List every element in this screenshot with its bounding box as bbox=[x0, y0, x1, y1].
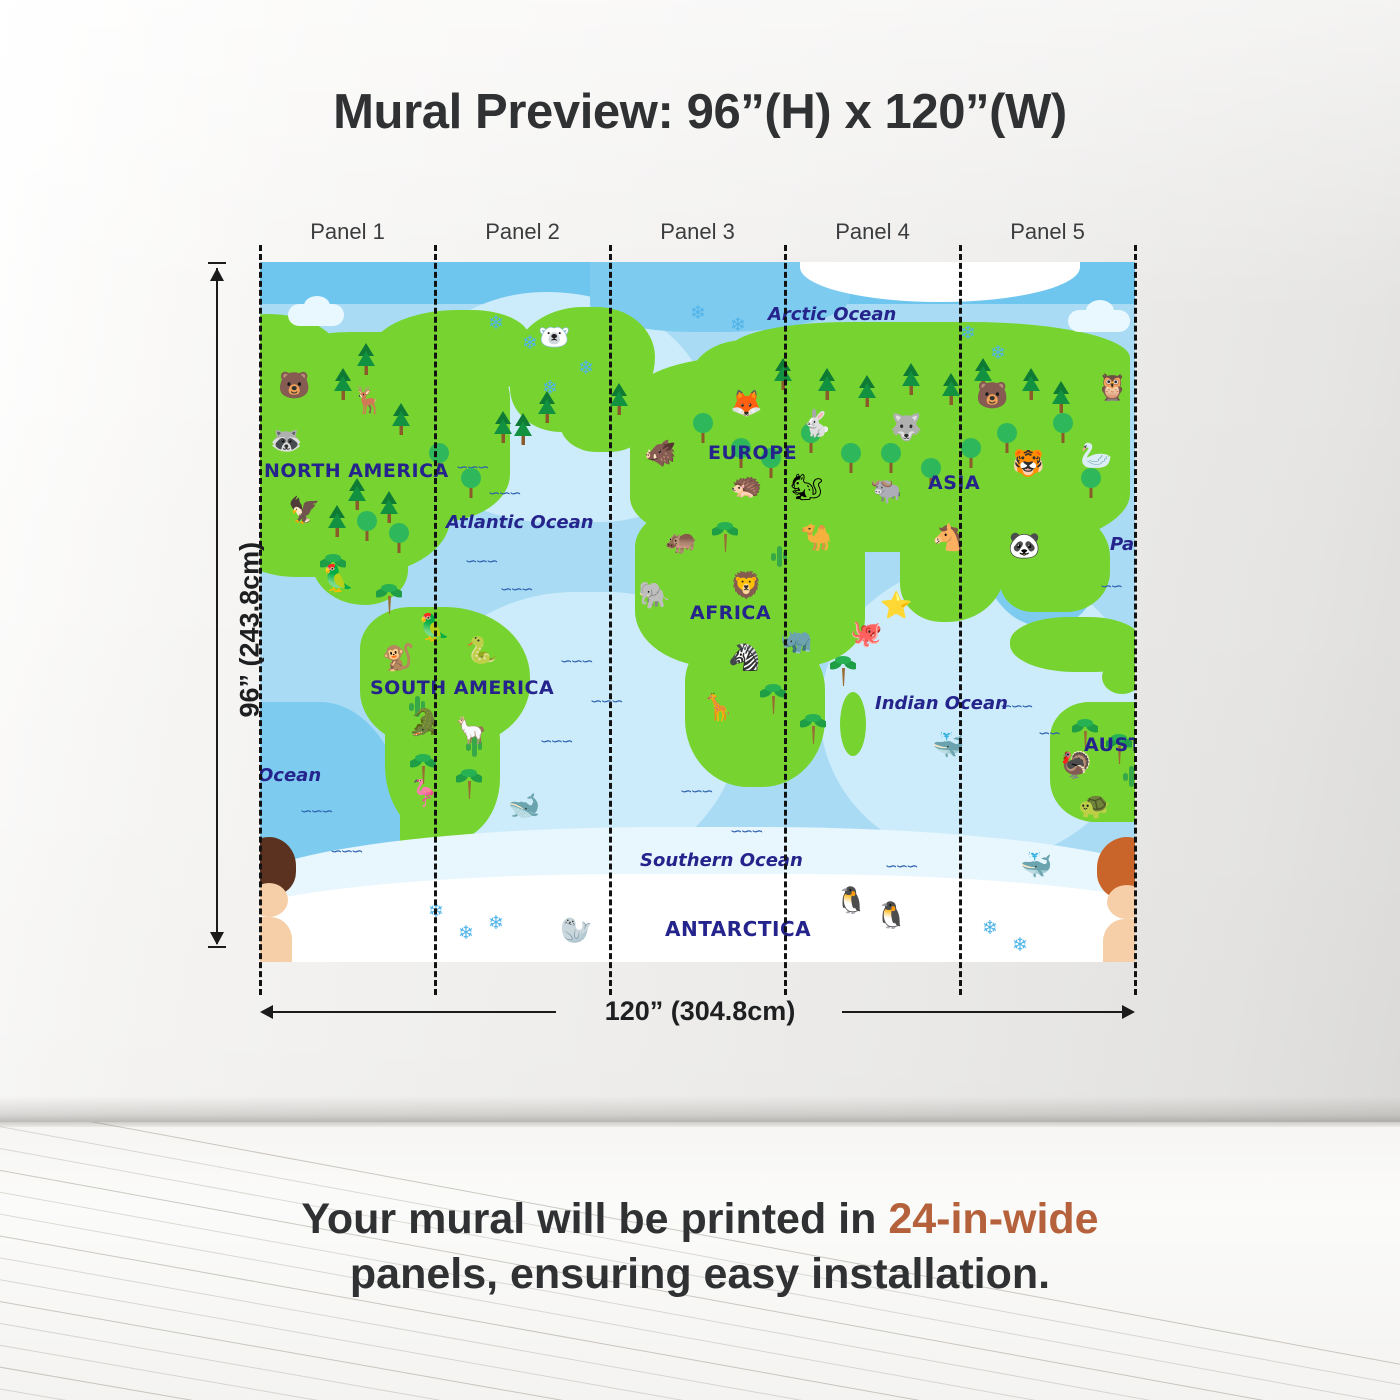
conifer-tree-icon bbox=[856, 374, 878, 413]
child-left-figure bbox=[260, 837, 302, 962]
map-label-south-america: SOUTH AMERICA bbox=[370, 677, 554, 699]
panel-seam-1 bbox=[434, 245, 437, 995]
penguin-small-icon: 🐧 bbox=[875, 902, 907, 928]
broadleaf-tree-icon bbox=[388, 522, 410, 559]
monkey-icon: 🐒 bbox=[382, 644, 414, 670]
wave-decor: ∽∽∽ bbox=[590, 692, 622, 710]
wave-decor: ∽∽ bbox=[1100, 577, 1121, 595]
broadleaf-tree-icon bbox=[1080, 467, 1102, 504]
land-southeast-asia bbox=[1000, 512, 1110, 612]
wave-decor: ∽∽∽ bbox=[330, 842, 362, 860]
ostrich-icon: 🦃 bbox=[1060, 752, 1092, 778]
broadleaf-tree-icon bbox=[460, 467, 482, 504]
wave-decor: ∽∽∽ bbox=[885, 857, 917, 875]
owl-icon: 🦉 bbox=[1096, 374, 1128, 400]
panel-label-5: Panel 5 bbox=[960, 215, 1135, 249]
map-label-africa: AFRICA bbox=[690, 602, 771, 624]
snowflake-icon: ❄ bbox=[690, 302, 706, 325]
panel-seam-5 bbox=[1134, 245, 1137, 995]
llama-icon: 🦙 bbox=[455, 717, 487, 743]
seal-icon: 🦭 bbox=[560, 917, 592, 943]
horizontal-dimension-label: 120” (304.8cm) bbox=[560, 996, 840, 1027]
mural-preview-image[interactable]: ∽∽∽ ∽∽∽ ∽∽∽ ∽∽∽ ∽∽∽ ∽∽∽ ∽∽∽ ∽∽∽ ∽∽∽ ∽∽∽ … bbox=[260, 262, 1135, 962]
conifer-tree-icon bbox=[492, 410, 514, 449]
broadleaf-tree-icon bbox=[880, 442, 902, 479]
wave-decor: ∽∽∽ bbox=[300, 802, 332, 820]
map-label-indian-ocean: Indian Ocean bbox=[875, 693, 1008, 714]
palm-tree-icon bbox=[800, 712, 826, 751]
broadleaf-tree-icon bbox=[960, 437, 982, 474]
elephant-icon: 🐘 bbox=[638, 582, 670, 608]
snowflake-icon: ❄ bbox=[578, 357, 594, 380]
conifer-tree-icon bbox=[900, 362, 922, 401]
floor-plank-line bbox=[0, 1346, 1400, 1400]
caption-line-1: Your mural will be printed in 24-in-wide bbox=[0, 1192, 1400, 1247]
fox-icon: 🦊 bbox=[730, 390, 762, 416]
tiger-icon: 🐯 bbox=[1012, 450, 1044, 476]
floor-plank-line bbox=[0, 1324, 1400, 1400]
wolf-icon: 🐺 bbox=[890, 414, 922, 440]
squirrel-icon: 🐿 bbox=[790, 474, 823, 500]
panel-label-3: Panel 3 bbox=[610, 215, 785, 249]
map-label-north-america: NORTH AMERICA bbox=[264, 460, 449, 482]
wave-decor: ∽∽∽ bbox=[680, 782, 712, 800]
map-label-arctic-ocean: Arctic Ocean bbox=[768, 304, 896, 325]
snowflake-icon: ❄ bbox=[488, 312, 504, 335]
palm-tree-icon bbox=[712, 520, 738, 559]
whale-icon: 🐋 bbox=[508, 792, 540, 818]
footer-caption: Your mural will be printed in 24-in-wide… bbox=[0, 1192, 1400, 1302]
land-oceania-isle bbox=[1102, 660, 1135, 694]
eagle-icon: 🦅 bbox=[288, 497, 320, 523]
vdim-arrow-up bbox=[210, 268, 224, 281]
land-madagascar bbox=[840, 692, 866, 756]
floor-plank-line bbox=[0, 1390, 1400, 1400]
caption-line-1-text: Your mural will be printed in bbox=[301, 1195, 888, 1243]
map-label-asia: ASIA bbox=[928, 472, 980, 494]
snowflake-icon: ❄ bbox=[488, 912, 504, 935]
snowflake-icon: ❄ bbox=[960, 322, 976, 345]
octopus-icon: 🐙 bbox=[850, 620, 882, 646]
wave-decor: ∽∽∽ bbox=[465, 552, 497, 570]
broadleaf-tree-icon bbox=[356, 510, 378, 547]
hippo-icon: 🦛 bbox=[665, 527, 697, 553]
conifer-tree-icon bbox=[816, 367, 838, 406]
conifer-tree-icon bbox=[332, 367, 354, 406]
conifer-tree-icon bbox=[512, 412, 534, 451]
zebra-icon: 🦓 bbox=[728, 644, 760, 670]
boar-icon: 🐗 bbox=[644, 440, 676, 466]
starfish-icon: ⭐ bbox=[880, 592, 912, 618]
wall-baseboard-shadow bbox=[0, 1096, 1400, 1122]
panel-seam-3 bbox=[784, 245, 787, 995]
snowflake-icon: ❄ bbox=[730, 314, 746, 337]
toucan-icon: 🦜 bbox=[322, 565, 354, 591]
map-label-pa: Pa bbox=[1110, 534, 1134, 555]
map-label-southern-ocean: Southern Ocean bbox=[640, 850, 803, 871]
wave-decor: ∽∽∽ bbox=[500, 580, 532, 598]
penguin-big-icon: 🐧 bbox=[835, 887, 867, 913]
floor-plank-line bbox=[0, 1368, 1400, 1400]
polar-bear-icon: 🐻‍❄️ bbox=[538, 324, 570, 350]
rabbit-icon: 🐇 bbox=[800, 410, 832, 436]
snowflake-icon: ❄ bbox=[982, 917, 998, 940]
child-right-figure bbox=[1091, 837, 1135, 962]
hdim-axis-right bbox=[842, 1011, 1132, 1013]
conifer-tree-icon bbox=[772, 357, 794, 396]
narwhal-icon: 🐳 bbox=[1020, 852, 1052, 878]
palm-tree-icon bbox=[376, 582, 402, 621]
lion-icon: 🦁 bbox=[730, 572, 762, 598]
yak-icon: 🐃 bbox=[870, 477, 902, 503]
hdim-arrow-left bbox=[260, 1005, 273, 1019]
broadleaf-tree-icon bbox=[1052, 412, 1074, 449]
panda-icon: 🐼 bbox=[1008, 532, 1040, 558]
snowflake-icon: ❄ bbox=[1012, 934, 1028, 957]
conifer-tree-icon bbox=[1020, 367, 1042, 406]
moose-icon: 🦌 bbox=[352, 387, 384, 413]
page-title: Mural Preview: 96”(H) x 120”(W) bbox=[0, 84, 1400, 140]
giraffe-icon: 🦒 bbox=[702, 694, 734, 720]
floor-edge bbox=[0, 1122, 1400, 1127]
black-bear-icon: 🐻 bbox=[278, 372, 310, 398]
panel-label-row: Panel 1Panel 2Panel 3Panel 4Panel 5 bbox=[260, 215, 1135, 249]
panel-seam-2 bbox=[609, 245, 612, 995]
panel-label-1: Panel 1 bbox=[260, 215, 435, 249]
map-label-antarctica: ANTARCTICA bbox=[665, 917, 811, 941]
hdim-arrow-right bbox=[1122, 1005, 1135, 1019]
conifer-tree-icon bbox=[355, 342, 377, 381]
vdim-arrow-down bbox=[210, 932, 224, 945]
camel-icon: 🐪 bbox=[800, 524, 832, 550]
crane-icon: 🦢 bbox=[1080, 442, 1112, 468]
wave-decor: ∽∽∽ bbox=[730, 822, 762, 840]
hdim-axis-left bbox=[266, 1011, 556, 1013]
wave-decor: ∽∽∽ bbox=[560, 652, 592, 670]
map-label-atlantic-ocean: Atlantic Ocean bbox=[446, 512, 594, 533]
snowflake-icon: ❄ bbox=[458, 922, 474, 945]
caption-highlight: 24-in-wide bbox=[888, 1195, 1098, 1243]
snake-icon: 🐍 bbox=[465, 637, 497, 663]
conifer-tree-icon bbox=[390, 402, 412, 441]
vdim-tick-top bbox=[208, 262, 226, 264]
panel-seam-4 bbox=[959, 245, 962, 995]
cloud-decor bbox=[1086, 300, 1114, 322]
brown-bear-icon: 🐻 bbox=[976, 382, 1008, 408]
panel-label-2: Panel 2 bbox=[435, 215, 610, 249]
cloud-decor bbox=[304, 296, 330, 316]
raccoon-icon: 🦝 bbox=[270, 427, 302, 453]
palm-tree-icon bbox=[456, 767, 482, 806]
vdim-tick-bottom bbox=[208, 946, 226, 948]
wave-decor: ∽∽ bbox=[1038, 724, 1059, 742]
vdim-axis bbox=[216, 268, 218, 944]
caption-line-2: panels, ensuring easy installation. bbox=[0, 1247, 1400, 1302]
palm-tree-icon bbox=[760, 682, 786, 721]
conifer-tree-icon bbox=[326, 504, 348, 543]
panel-label-4: Panel 4 bbox=[785, 215, 960, 249]
snowflake-icon: ❄ bbox=[522, 332, 538, 355]
wave-decor: ∽∽∽ bbox=[540, 732, 572, 750]
hedgehog-icon: 🦔 bbox=[730, 472, 762, 498]
wave-decor: ∽∽∽ bbox=[488, 484, 520, 502]
conifer-tree-icon bbox=[536, 390, 558, 429]
palm-tree-icon bbox=[830, 654, 856, 693]
broadleaf-tree-icon bbox=[840, 442, 862, 479]
turtle-icon: 🐢 bbox=[1078, 792, 1110, 818]
vertical-dimension-label: 96” (243.8cm) bbox=[235, 498, 266, 718]
map-label-ocean: Ocean bbox=[260, 765, 321, 786]
